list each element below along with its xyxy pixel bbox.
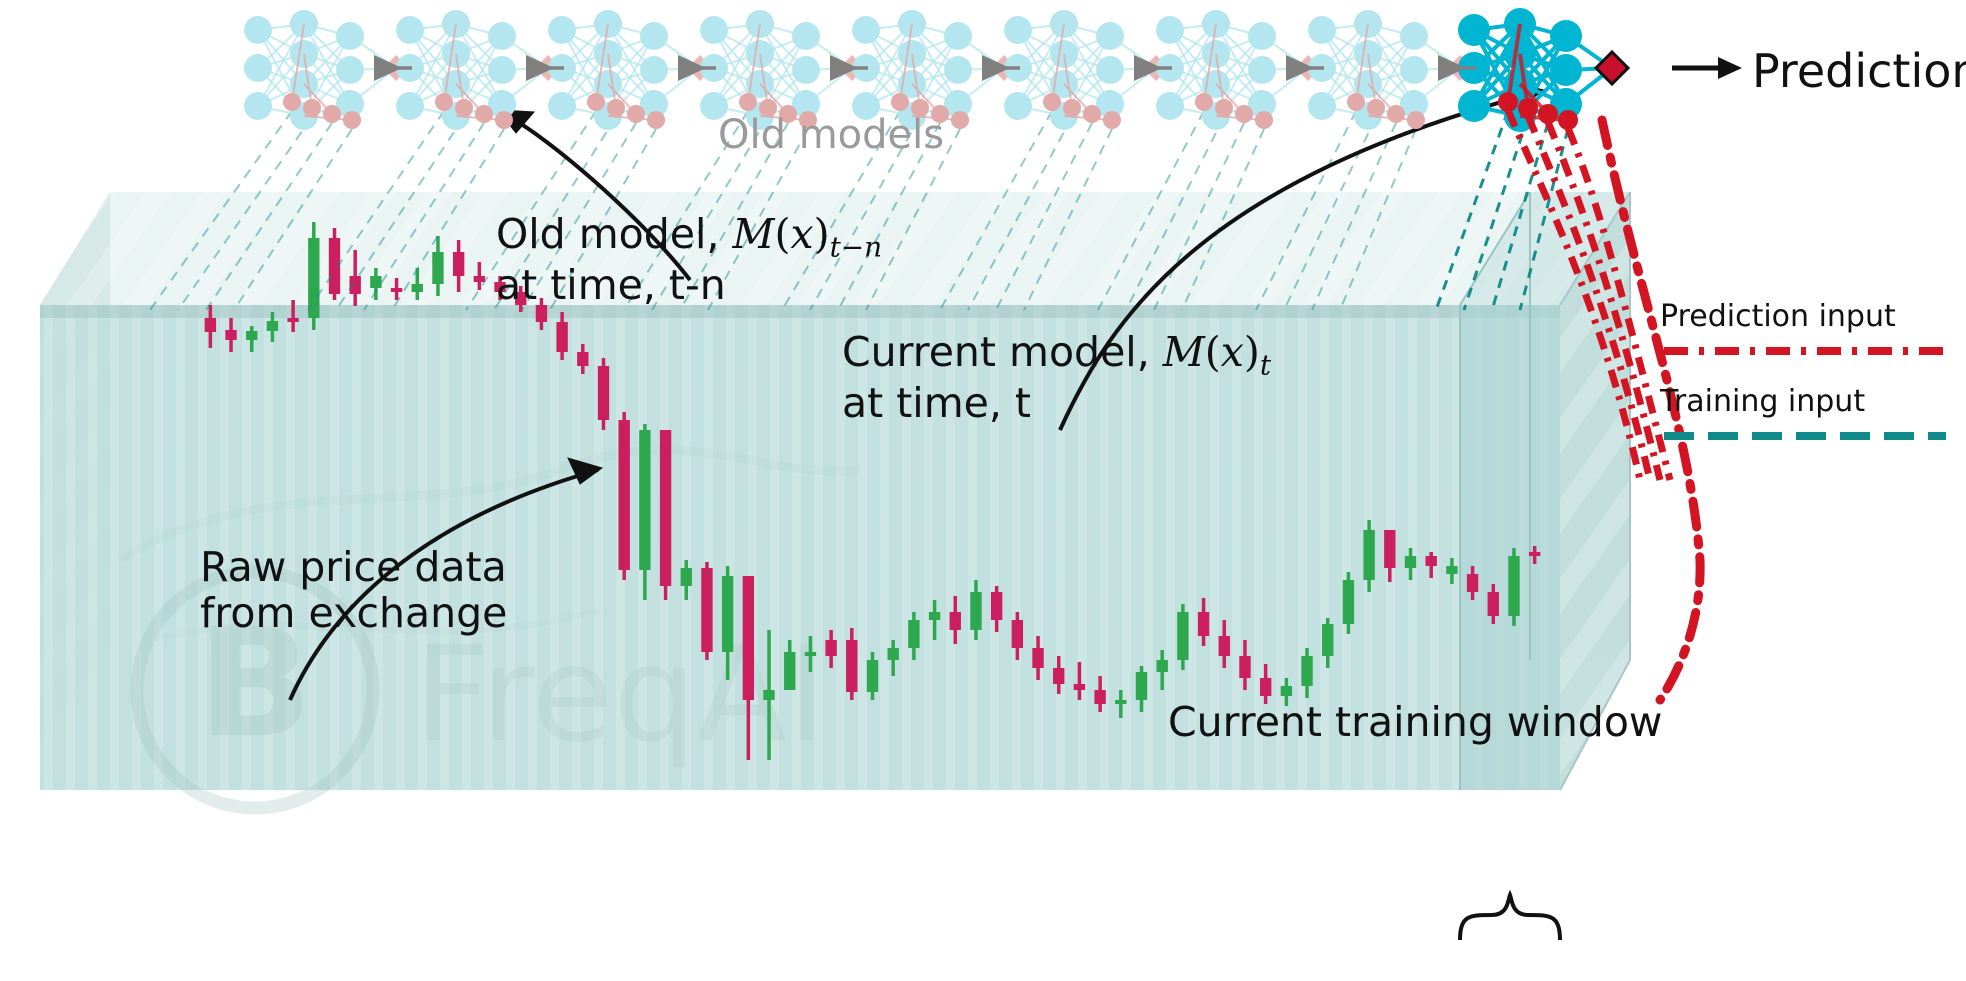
raw-price-data-annotation: Raw price data from exchange (200, 545, 507, 637)
prediction-label: Prediction (1752, 44, 1966, 98)
current-model-annotation: Current model, M(x)t at time, t (842, 330, 1271, 426)
old-model-math-paren-close: ) (814, 210, 830, 258)
old-model-math-m: M (732, 210, 774, 258)
current-model-time-text: at time, t (842, 381, 1271, 427)
old-model-time-text: at time, t-n (496, 263, 882, 309)
legend-swatch-prediction-input (1660, 342, 1950, 360)
current-model-math-paren-open: ( (1205, 328, 1221, 376)
old-model-label-text: Old model, (496, 210, 732, 258)
diagram-canvas: B FreqAI (0, 0, 1966, 981)
legend-item-training-input: Training input (1660, 385, 1950, 452)
current-model-math-m: M (1163, 328, 1205, 376)
legend-item-prediction-input: Prediction input (1660, 300, 1950, 367)
current-model-math-paren-close: ) (1244, 328, 1260, 376)
old-model-math-paren-open: ( (774, 210, 790, 258)
old-model-math-x: x (790, 210, 813, 258)
old-model-math-subscript: t−n (830, 230, 883, 263)
current-training-window-label: Current training window (1168, 700, 1662, 746)
legend-label-training-input: Training input (1660, 385, 1950, 419)
current-model-math-subscript: t (1260, 348, 1271, 381)
legend: Prediction input Training input (1660, 300, 1950, 452)
raw-price-line-2: from exchange (200, 591, 507, 637)
current-model-label-text: Current model, (842, 328, 1163, 376)
neural-network-row (0, 0, 1966, 981)
legend-label-prediction-input: Prediction input (1660, 300, 1950, 334)
raw-price-line-1: Raw price data (200, 545, 507, 591)
prediction-output-arrow (1672, 57, 1742, 79)
current-model-math-x: x (1221, 328, 1244, 376)
legend-swatch-training-input (1660, 427, 1950, 445)
old-models-label: Old models (718, 112, 944, 158)
old-model-annotation: Old model, M(x)t−n at time, t-n (496, 212, 882, 308)
